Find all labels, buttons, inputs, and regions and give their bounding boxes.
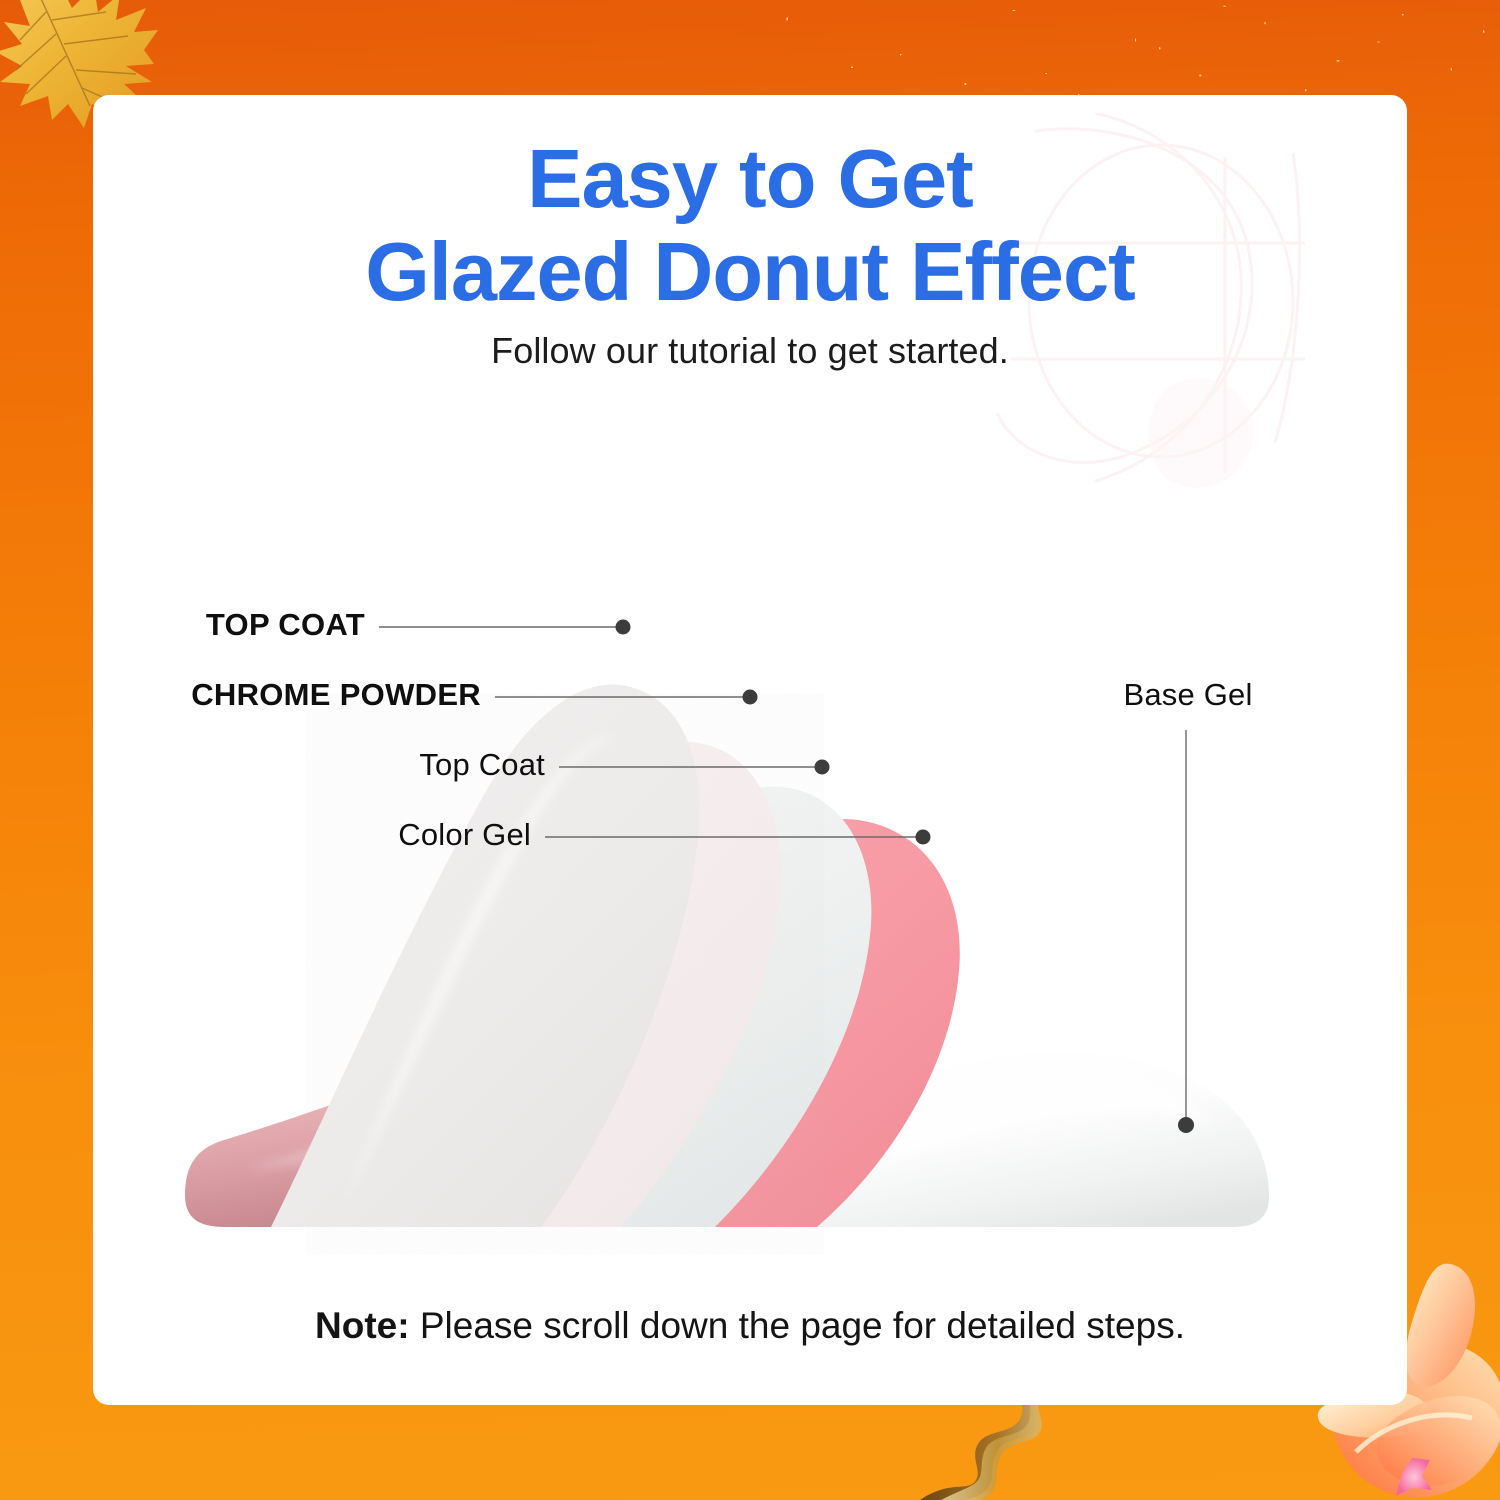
footer-note-text: Please scroll down the page for detailed… bbox=[420, 1305, 1185, 1346]
poster-canvas: Easy to Get Glazed Donut Effect Follow o… bbox=[0, 0, 1500, 1500]
label-chrome-powder: CHROME POWDER bbox=[93, 677, 481, 713]
label-color-gel: Color Gel bbox=[93, 817, 531, 853]
page-title: Easy to Get Glazed Donut Effect bbox=[93, 133, 1407, 319]
label-top-coat-upper: TOP COAT bbox=[93, 607, 365, 643]
label-base-gel: Base Gel bbox=[1093, 677, 1283, 713]
label-top-coat-lower: Top Coat bbox=[93, 747, 545, 783]
footer-note: Note: Please scroll down the page for de… bbox=[93, 1305, 1407, 1347]
footer-note-label: Note: bbox=[315, 1305, 410, 1346]
content-card: Easy to Get Glazed Donut Effect Follow o… bbox=[93, 95, 1407, 1405]
nail-layers-illustration: TOP COAT CHROME POWDER Top Coat Color Ge… bbox=[93, 425, 1407, 1255]
confetti-speckles bbox=[690, 0, 1500, 105]
page-subtitle: Follow our tutorial to get started. bbox=[93, 330, 1407, 372]
